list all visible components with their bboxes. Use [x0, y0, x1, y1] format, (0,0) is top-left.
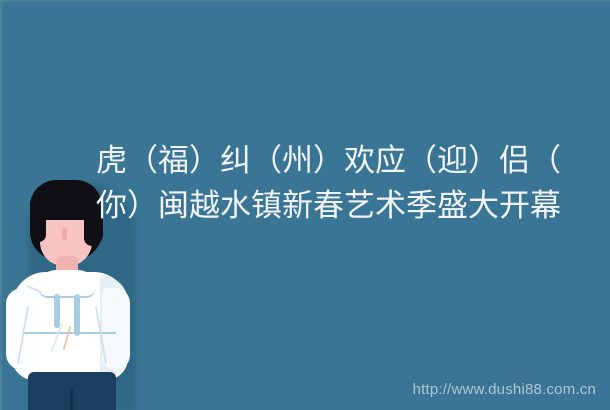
drawstring-right	[74, 294, 80, 336]
source-watermark: http://www.dushi88.com.cn	[413, 381, 596, 398]
drawstring-left	[54, 294, 60, 328]
nose-shape	[62, 228, 67, 240]
page-title: 虎（福）纠（州）欢应（迎）侣（ 你）闽越水镇新春艺术季盛大开幕	[96, 138, 596, 228]
hoodie-sleeve-left	[6, 288, 36, 370]
title-line-2: 你）闽越水镇新春艺术季盛大开幕	[96, 183, 596, 228]
title-line-1: 虎（福）纠（州）欢应（迎）侣（	[96, 138, 596, 183]
poster-canvas: 虎（福）纠（州）欢应（迎）侣（ 你）闽越水镇新春艺术季盛大开幕 http://w…	[0, 0, 610, 410]
hood-collar	[38, 270, 96, 298]
pants-center-seam	[70, 388, 73, 410]
hair-side-left-icon	[30, 196, 46, 242]
hoodie-pocket-seam	[24, 332, 116, 334]
